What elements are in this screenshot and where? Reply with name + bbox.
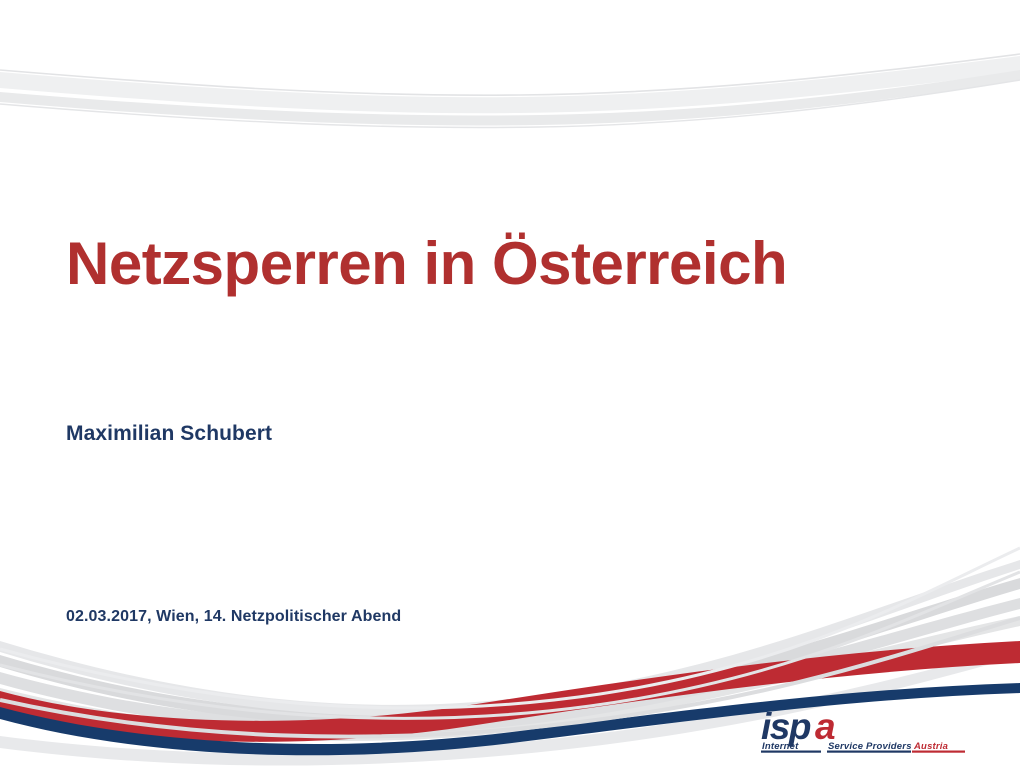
event-details: 02.03.2017, Wien, 14. Netzpolitischer Ab… [66, 608, 401, 626]
presentation-slide: Netzsperren in Österreich Maximilian Sch… [0, 0, 1020, 766]
slide-content: Netzsperren in Österreich Maximilian Sch… [0, 0, 1020, 766]
logo-tagline-internet: Internet [762, 741, 799, 752]
presenter-name: Maximilian Schubert [66, 422, 272, 446]
logo-tagline-service-providers: Service Providers [828, 741, 912, 752]
page-title: Netzsperren in Österreich [66, 232, 787, 297]
ispa-logo: isp a Internet Service Providers Austria [757, 706, 973, 760]
logo-tagline-austria: Austria [913, 741, 948, 752]
